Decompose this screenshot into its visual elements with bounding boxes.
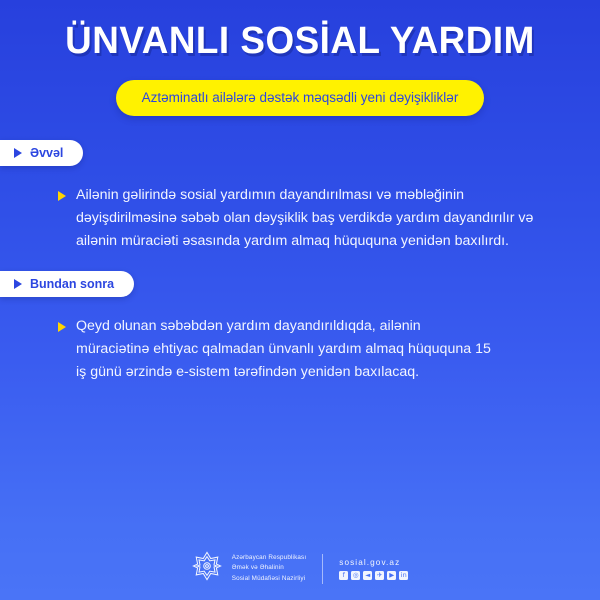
section-after: Bundan sonra Qeyd olunan səbəbdən yardım… bbox=[0, 271, 600, 384]
footer: Azərbaycan Respublikası Əmək və Əhalinin… bbox=[0, 551, 600, 586]
paragraph-row-before: Ailənin gəlirində sosial yardımın dayand… bbox=[0, 166, 600, 253]
twitter-icon[interactable]: ◄ bbox=[363, 571, 372, 580]
ministry-name: Azərbaycan Respublikası Əmək və Əhalinin… bbox=[232, 553, 307, 584]
footer-site-block: sosial.gov.az f ◎ ◄ ✈ ▶ in bbox=[339, 558, 408, 580]
footer-divider bbox=[322, 554, 323, 584]
play-triangle-icon bbox=[14, 148, 22, 158]
play-triangle-icon bbox=[58, 322, 66, 332]
website-url[interactable]: sosial.gov.az bbox=[339, 558, 408, 567]
instagram-icon[interactable]: ◎ bbox=[351, 571, 360, 580]
paragraph-text-after: Qeyd olunan səbəbdən yardım dayandırıldı… bbox=[76, 315, 496, 384]
paragraph-text-before: Ailənin gəlirində sosial yardımın dayand… bbox=[76, 184, 551, 253]
eight-pointed-star-emblem-icon bbox=[192, 551, 222, 586]
youtube-icon[interactable]: ▶ bbox=[387, 571, 396, 580]
play-triangle-icon bbox=[14, 279, 22, 289]
section-badge-before: Əvvəl bbox=[0, 140, 83, 166]
play-triangle-icon bbox=[58, 191, 66, 201]
infographic-page: { "colors": { "bg_top": "#2740dd", "bg_b… bbox=[0, 0, 600, 600]
header: ÜNVANLI SOSİAL YARDIM Aztəminatlı ailələ… bbox=[0, 0, 600, 116]
subtitle-banner: Aztəminatlı ailələrə dəstək məqsədli yen… bbox=[0, 80, 600, 116]
social-links: f ◎ ◄ ✈ ▶ in bbox=[339, 571, 408, 580]
section-badge-label: Əvvəl bbox=[30, 146, 63, 160]
section-badge-label: Bundan sonra bbox=[30, 277, 114, 291]
paragraph-row-after: Qeyd olunan səbəbdən yardım dayandırıldı… bbox=[0, 297, 600, 384]
subtitle-pill: Aztəminatlı ailələrə dəstək məqsədli yen… bbox=[116, 80, 485, 116]
linkedin-icon[interactable]: in bbox=[399, 571, 408, 580]
ministry-line-1: Azərbaycan Respublikası bbox=[232, 553, 307, 563]
telegram-icon[interactable]: ✈ bbox=[375, 571, 384, 580]
facebook-icon[interactable]: f bbox=[339, 571, 348, 580]
ministry-line-2: Əmək və Əhalinin bbox=[232, 563, 307, 573]
ministry-line-3: Sosial Müdafiəsi Nazirliyi bbox=[232, 574, 307, 584]
section-badge-after: Bundan sonra bbox=[0, 271, 134, 297]
section-before: Əvvəl Ailənin gəlirində sosial yardımın … bbox=[0, 140, 600, 253]
page-title: ÜNVANLI SOSİAL YARDIM bbox=[9, 22, 591, 62]
